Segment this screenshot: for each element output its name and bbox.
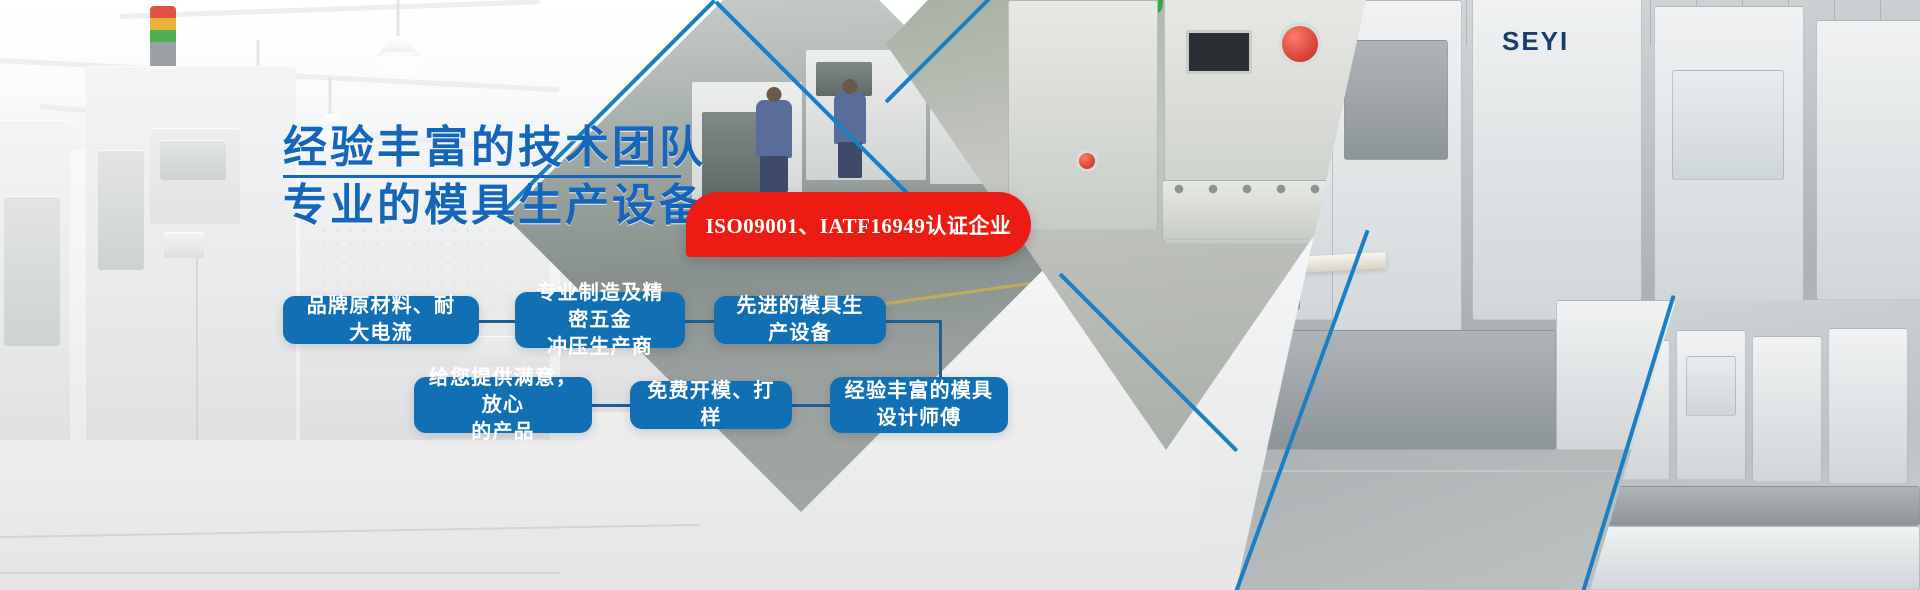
- connector-box3-vert: [884, 320, 942, 323]
- emergency-stop-button: [1278, 22, 1322, 66]
- feature-box-label-line1: 给您提供满意，放心: [428, 365, 578, 419]
- headline-block: 经验丰富的技术团队 专业的模具生产设备: [283, 124, 703, 230]
- feature-box-label-line1: 专业制造及精密五金: [529, 280, 671, 334]
- feature-box-label: 免费开模、打样: [644, 378, 778, 432]
- connector-box1-box2: [477, 320, 517, 323]
- workstation: [1828, 328, 1908, 484]
- feature-box-free-mold-sample[interactable]: 免费开模、打样: [630, 381, 792, 429]
- worker-figure: [756, 100, 792, 158]
- feature-box-satisfied-product[interactable]: 给您提供满意，放心 的产品: [414, 377, 592, 433]
- factory-floor: [0, 440, 1200, 590]
- feature-box-label: 先进的模具生产设备: [728, 293, 872, 347]
- headline-line-2: 专业的模具生产设备: [283, 182, 703, 230]
- press-machine-dark: [1344, 40, 1448, 160]
- certification-badge: ISO09001、IATF16949认证企业: [686, 192, 1031, 257]
- feature-box-label: 品牌原材料、耐大电流: [297, 293, 465, 347]
- machine-glass-panel: [1672, 70, 1784, 180]
- workstation-glass: [1686, 356, 1736, 416]
- connector-box4-box5: [590, 404, 632, 407]
- stack-light: [150, 6, 176, 66]
- hero-banner: KYORI SEYI: [0, 0, 1920, 590]
- feature-box-brand-material[interactable]: 品牌原材料、耐大电流: [283, 296, 479, 344]
- workstation: [1752, 336, 1822, 482]
- machine-label-f1: [164, 232, 204, 258]
- certification-badge-text: ISO09001、IATF16949认证企业: [706, 210, 1012, 240]
- feature-box-stamping-maker[interactable]: 专业制造及精密五金 冲压生产商: [515, 292, 685, 348]
- workstation-base: [1590, 486, 1920, 526]
- feature-box-label-line2: 冲压生产商: [547, 334, 653, 361]
- cnc-window: [98, 150, 144, 270]
- indicator-light: [1076, 150, 1098, 172]
- workstation-row: [1590, 526, 1920, 590]
- perforated-panel: [6, 200, 58, 340]
- connector-box2-box3: [682, 320, 717, 323]
- connector-box5-box6: [790, 404, 832, 407]
- machine-seam: [196, 250, 198, 470]
- feature-box-advanced-equipment[interactable]: 先进的模具生产设备: [714, 296, 886, 344]
- feature-box-label-line1: 经验丰富的模具: [845, 378, 993, 405]
- cnc-screen: [160, 140, 226, 180]
- headline-divider: [283, 175, 681, 178]
- press-cabinet: [1008, 0, 1158, 230]
- feature-box-mold-designer[interactable]: 经验丰富的模具 设计师傅: [830, 377, 1008, 433]
- feature-box-label-line2: 的产品: [471, 419, 535, 446]
- control-screen: [1186, 30, 1252, 74]
- machine-brand-seyi: SEYI: [1502, 26, 1569, 57]
- press-machine: [1816, 20, 1920, 300]
- headline-line-1: 经验丰富的技术团队: [283, 124, 703, 172]
- floor-line: [0, 572, 560, 574]
- feature-box-label-line2: 设计师傅: [877, 405, 962, 432]
